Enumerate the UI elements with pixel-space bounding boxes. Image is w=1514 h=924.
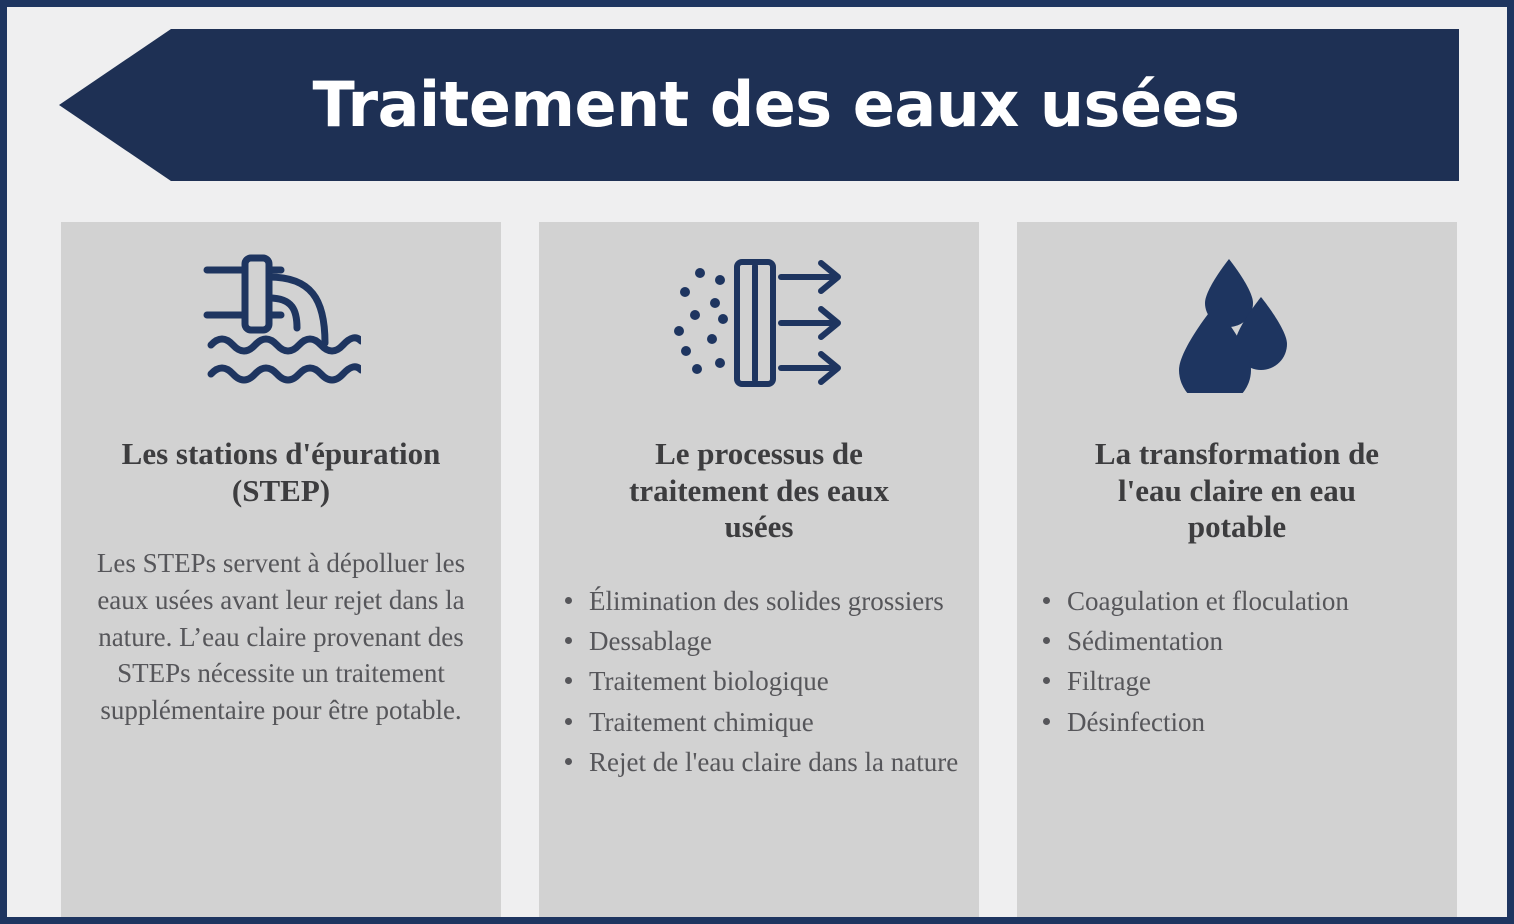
list-item: Traitement chimique — [559, 703, 958, 741]
water-droplets-icon — [1171, 248, 1303, 398]
card-bullet-list: Coagulation et floculation Sédimentation… — [1031, 582, 1349, 743]
list-item: Dessablage — [559, 622, 958, 660]
list-item: Rejet de l'eau claire dans la nature — [559, 743, 958, 781]
card-heading: La transformation de l'eau claire en eau… — [1072, 436, 1402, 546]
card-heading: Le processus de traitement des eaux usée… — [594, 436, 924, 546]
card-heading: Les stations d'épuration (STEP) — [116, 436, 446, 509]
list-item: Sédimentation — [1037, 622, 1349, 660]
card-transformation-eau-potable: La transformation de l'eau claire en eau… — [1017, 222, 1457, 917]
banner-shape: Traitement des eaux usées — [59, 29, 1459, 181]
title-banner: Traitement des eaux usées — [59, 29, 1459, 181]
list-item: Coagulation et floculation — [1037, 582, 1349, 620]
card-processus-traitement: Le processus de traitement des eaux usée… — [539, 222, 979, 917]
columns-container: Les stations d'épuration (STEP) Les STEP… — [61, 222, 1457, 917]
page-title: Traitement des eaux usées — [279, 74, 1240, 136]
list-item: Désinfection — [1037, 703, 1349, 741]
wastewater-outfall-pipe-icon — [201, 248, 361, 398]
filtration-membrane-icon — [669, 248, 849, 398]
card-stations-epuration: Les stations d'épuration (STEP) Les STEP… — [61, 222, 501, 917]
card-bullet-list: Élimination des solides grossiers Dessab… — [553, 582, 958, 784]
list-item: Traitement biologique — [559, 662, 958, 700]
infographic-poster: Traitement des eaux usées Les station — [0, 0, 1514, 924]
list-item: Filtrage — [1037, 662, 1349, 700]
card-body-text: Les STEPs servent à dépolluer les eaux u… — [76, 545, 486, 729]
list-item: Élimination des solides grossiers — [559, 582, 958, 620]
